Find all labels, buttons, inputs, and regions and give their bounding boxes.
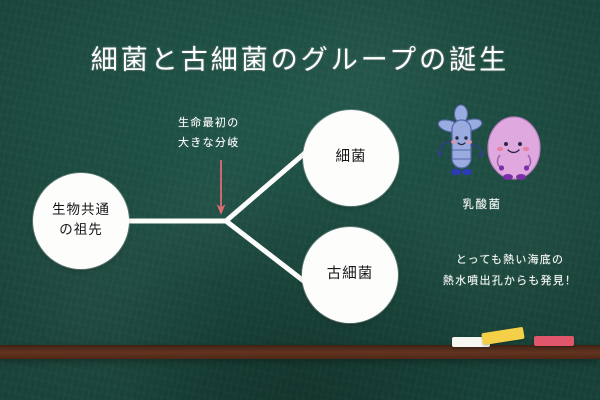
node-bacteria-label: 細菌 [336, 147, 367, 168]
note-line2: 熱水噴出孔からも発見！ [424, 271, 596, 292]
character-label: 乳酸菌 [430, 196, 534, 212]
rod-bacterium-icon [437, 105, 483, 175]
chalk-tray [0, 345, 600, 359]
chalkboard-canvas: 細菌と古細菌のグループの誕生 生物共通 の祖先 細菌 古細菌 生命最初の 大きな… [0, 0, 600, 400]
node-archaea-label: 古細菌 [327, 264, 374, 285]
note-line1: とっても熱い海底の [424, 250, 596, 271]
node-bacteria[interactable]: 細菌 [303, 110, 399, 206]
node-archaea[interactable]: 古細菌 [302, 227, 398, 323]
bacteria-character-illustrations [432, 100, 562, 200]
node-common-ancestor[interactable]: 生物共通 の祖先 [33, 173, 129, 269]
oval-bacterium-icon [488, 117, 540, 180]
annotation-first-divergence: 生命最初の 大きな分岐 [178, 113, 240, 154]
note-hydrothermal-vent: とっても熱い海底の 熱水噴出孔からも発見！ [424, 250, 596, 292]
node-common-ancestor-line1: 生物共通 [52, 201, 110, 221]
chalk-red[interactable] [534, 336, 574, 346]
annotation-line2: 大きな分岐 [178, 133, 240, 153]
arrow-down-icon [208, 158, 234, 218]
page-title: 細菌と古細菌のグループの誕生 [0, 38, 600, 77]
annotation-line1: 生命最初の [178, 113, 240, 133]
node-common-ancestor-line2: の祖先 [59, 221, 103, 241]
